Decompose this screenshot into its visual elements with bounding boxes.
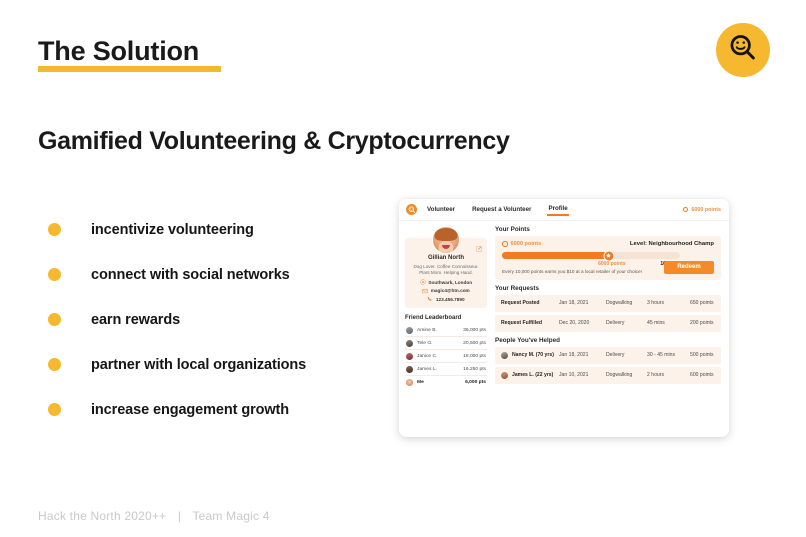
tab-profile[interactable]: Profile: [548, 205, 567, 214]
leaderboard-points: 6,000 pts: [465, 380, 486, 385]
bullet-label: increase engagement growth: [91, 402, 289, 418]
bullet-label: earn rewards: [91, 312, 180, 328]
helped-person: James L. (22 yrs): [501, 372, 559, 379]
list-item: earn rewards: [48, 297, 378, 342]
bullet-dot-icon: [48, 403, 61, 416]
helped-type: Dogwalking: [606, 372, 647, 378]
tab-volunteer[interactable]: Volunteer: [427, 206, 455, 213]
list-item: connect with social networks: [48, 252, 378, 297]
helped-date: Jan 18, 2021: [559, 352, 606, 358]
list-item: partner with local organizations: [48, 342, 378, 387]
feature-bullet-list: incentivize volunteering connect with so…: [48, 207, 378, 432]
progress-handle[interactable]: [603, 250, 614, 261]
slide-footer: Hack the North 2020++ | Team Magic 4: [38, 509, 270, 523]
points-panel: 6000 points Level: Neighbourhood Champ 6…: [495, 236, 721, 280]
leaderboard-name: Me: [417, 380, 424, 385]
leaderboard-points: 20,500 pts: [463, 341, 486, 346]
page-subtitle: Gamified Volunteering & Cryptocurrency: [38, 127, 510, 156]
request-status: Request Posted: [501, 300, 559, 306]
profile-email[interactable]: magic4@htn.com: [431, 288, 470, 293]
app-screenshot-card: Volunteer Request a Volunteer Profile 60…: [399, 199, 729, 437]
profile-email-row: magic4@htn.com: [409, 288, 483, 294]
list-item: increase engagement growth: [48, 387, 378, 432]
points-badge-label: 6000 points: [691, 207, 721, 213]
helped-points: 500 points: [690, 352, 714, 358]
avatar-hair: [435, 228, 458, 241]
list-item: incentivize volunteering: [48, 207, 378, 252]
page-title: The Solution: [38, 36, 199, 67]
helped-duration: 30 - 45 mins: [647, 352, 690, 358]
list-item[interactable]: Janice C. 18,000 pts: [405, 350, 487, 363]
envelope-icon: [422, 288, 428, 294]
table-row[interactable]: Request Fulfilled Dec 20, 2020 Delivery …: [495, 315, 721, 332]
tab-request-a-volunteer[interactable]: Request a Volunteer: [472, 206, 531, 213]
app-main-panel: Your Points 6000 points Level: Neighbour…: [492, 221, 729, 437]
request-duration: 3 hours: [647, 300, 690, 306]
list-item[interactable]: Me 6,000 pts: [405, 376, 487, 389]
points-level: Level: Neighbourhood Champ: [630, 241, 714, 247]
edit-pencil-icon[interactable]: [476, 245, 483, 252]
profile-phone-row: 123.456.7890: [409, 296, 483, 302]
profile-location: Southwark, London: [428, 280, 472, 285]
brand-logo-badge: [716, 23, 770, 77]
points-badge[interactable]: 6000 points: [683, 207, 721, 213]
avatar: [406, 353, 413, 360]
avatar: [432, 226, 460, 254]
table-row[interactable]: James L. (22 yrs) Jan 10, 2021 Dogwalkin…: [495, 367, 721, 384]
profile-location-row: Southwark, London: [409, 279, 483, 285]
leaderboard-points: 36,000 pts: [463, 328, 486, 333]
leaderboard-heading: Friend Leaderboard: [405, 315, 487, 321]
leaderboard-points: 16,250 pts: [463, 367, 486, 372]
request-type: Delivery: [606, 320, 647, 326]
location-pin-icon: [420, 279, 426, 285]
points-panel-header: 6000 points Level: Neighbourhood Champ: [502, 241, 714, 247]
leaderboard-list: Amine B. 36,000 pts Tele O. 20,500 pts J…: [405, 324, 487, 389]
list-item[interactable]: James L. 16,250 pts: [405, 363, 487, 376]
avatar: [406, 340, 413, 347]
footer-event: Hack the North 2020++: [38, 509, 166, 523]
avatar: [406, 366, 413, 373]
leaderboard-name: Tele O.: [417, 341, 433, 346]
bullet-label: incentivize volunteering: [91, 222, 254, 238]
footer-team: Team Magic 4: [192, 509, 269, 523]
helped-date: Jan 10, 2021: [559, 372, 606, 378]
leaderboard-points: 18,000 pts: [463, 354, 486, 359]
bullet-dot-icon: [48, 268, 61, 281]
your-points-heading: Your Points: [495, 226, 721, 233]
helped-person: Nancy M. (70 yrs): [501, 352, 559, 359]
progress-labels: 6000 points 10,000 points: [502, 261, 680, 268]
magnifying-glass-smiley-icon[interactable]: [406, 204, 417, 215]
bullet-dot-icon: [48, 313, 61, 326]
request-type: Dogwalking: [606, 300, 647, 306]
list-item[interactable]: Amine B. 36,000 pts: [405, 324, 487, 337]
people-helped-heading: People You've Helped: [495, 337, 721, 344]
profile-phone[interactable]: 123.456.7890: [436, 297, 465, 302]
app-sidebar: Gillian North Dog Lover. Coffee Connoiss…: [399, 221, 492, 437]
request-date: Jan 18, 2021: [559, 300, 606, 306]
your-requests-table: Request Posted Jan 18, 2021 Dogwalking 3…: [495, 295, 721, 332]
list-item[interactable]: Tele O. 20,500 pts: [405, 337, 487, 350]
profile-card: Gillian North Dog Lover. Coffee Connoiss…: [405, 238, 487, 308]
leaderboard-name: Amine B.: [417, 328, 437, 333]
redeem-button[interactable]: Redeem: [664, 261, 714, 274]
bullet-label: partner with local organizations: [91, 357, 306, 373]
app-navbar: Volunteer Request a Volunteer Profile 60…: [399, 199, 729, 221]
helped-points: 600 points: [690, 372, 714, 378]
app-content: Gillian North Dog Lover. Coffee Connoiss…: [399, 221, 729, 437]
profile-bio: Dog Lover. Coffee Connoisseur. Plant Mom…: [409, 264, 483, 277]
people-helped-table: Nancy M. (70 yrs) Jan 18, 2021 Delivery …: [495, 347, 721, 384]
leaderboard-name: James L.: [417, 367, 437, 372]
request-duration: 45 mins: [647, 320, 690, 326]
bullet-dot-icon: [48, 358, 61, 371]
request-status: Request Fulfilled: [501, 320, 559, 326]
bullet-dot-icon: [48, 223, 61, 236]
request-date: Dec 20, 2020: [559, 320, 606, 326]
points-progress-bar[interactable]: [502, 252, 680, 259]
footer-separator: |: [178, 509, 181, 523]
coin-icon: [683, 207, 689, 213]
magnifying-glass-smiley-icon: [728, 33, 758, 68]
avatar: [501, 372, 508, 379]
coin-icon: [502, 241, 508, 247]
progress-current-label: 6000 points: [598, 261, 626, 267]
profile-name: Gillian North: [409, 255, 483, 261]
bullet-label: connect with social networks: [91, 267, 290, 283]
points-value: 6000 points: [511, 241, 542, 247]
helped-person-name: James L. (22 yrs): [512, 372, 553, 378]
helped-duration: 2 hours: [647, 372, 690, 378]
title-underline-accent: [38, 66, 221, 72]
phone-icon: [427, 296, 433, 302]
progress-fill: [502, 252, 609, 259]
table-row[interactable]: Nancy M. (70 yrs) Jan 18, 2021 Delivery …: [495, 347, 721, 364]
leaderboard-name: Janice C.: [417, 354, 437, 359]
request-points: 650 points: [690, 300, 714, 306]
helped-type: Delivery: [606, 352, 647, 358]
request-points: 200 points: [690, 320, 714, 326]
your-requests-heading: Your Requests: [495, 285, 721, 292]
table-row[interactable]: Request Posted Jan 18, 2021 Dogwalking 3…: [495, 295, 721, 312]
avatar: [406, 379, 413, 386]
avatar: [406, 327, 413, 334]
avatar: [501, 352, 508, 359]
helped-person-name: Nancy M. (70 yrs): [512, 352, 554, 358]
